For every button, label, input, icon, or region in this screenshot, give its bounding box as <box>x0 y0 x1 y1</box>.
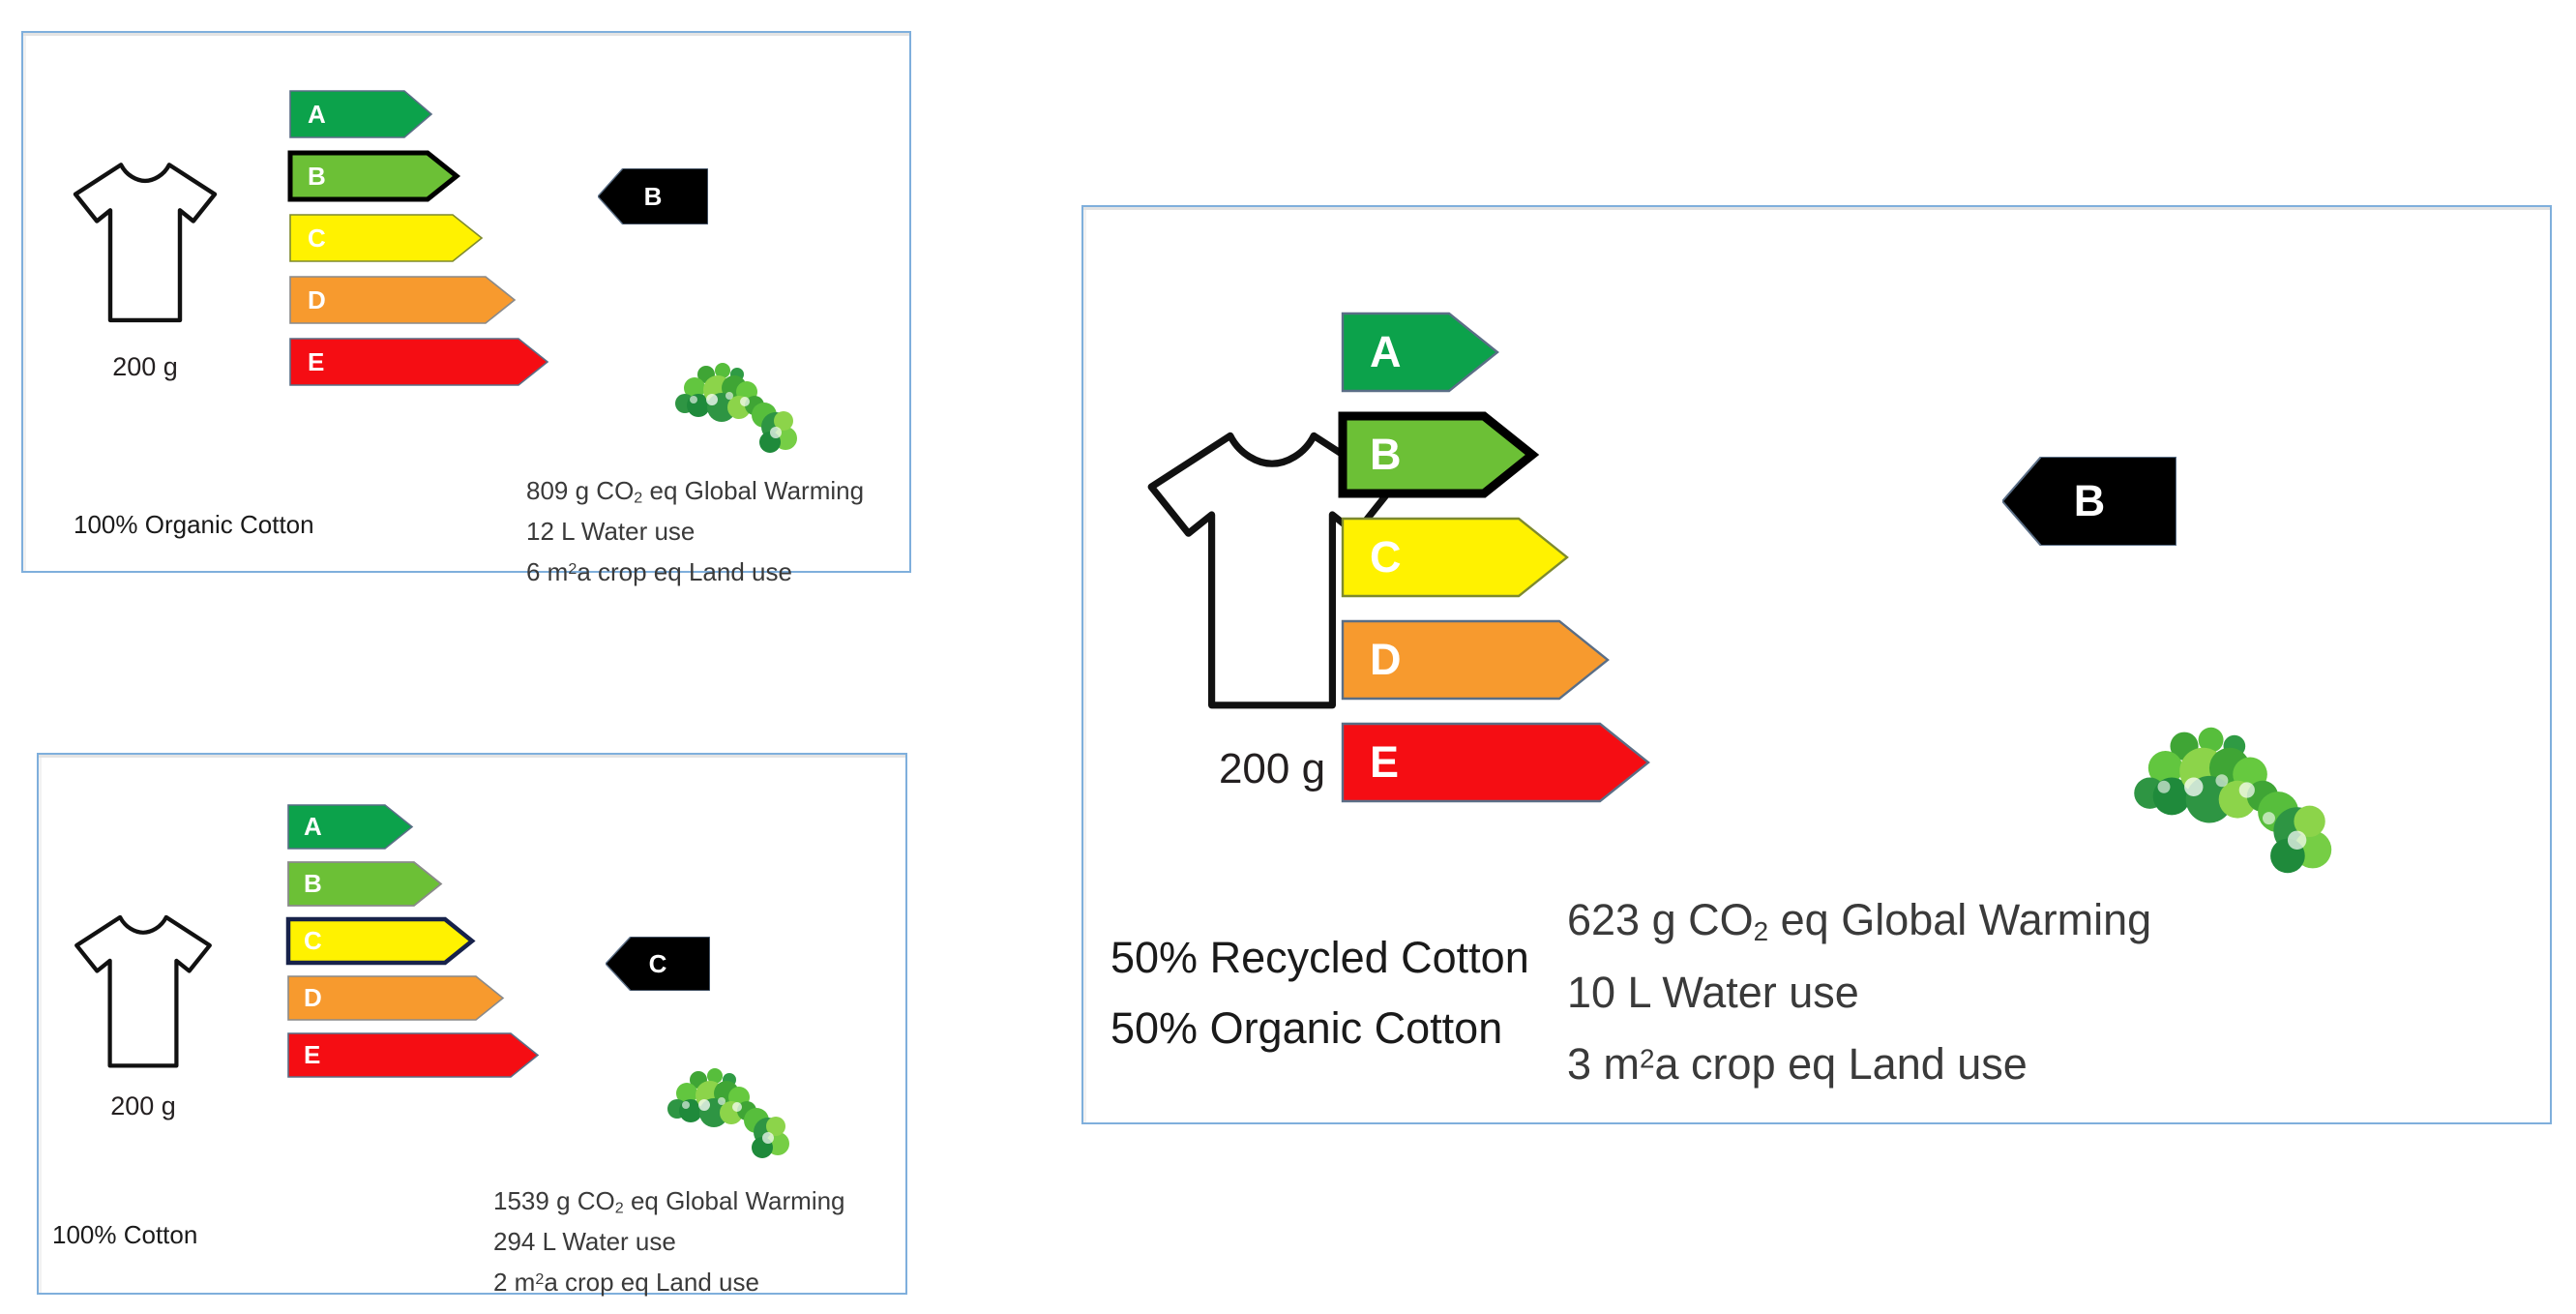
impact-values: 809 g CO2 eq Global Warming 12 L Water u… <box>526 470 864 592</box>
label-panel-conventional-cotton: 200 g A B <box>37 753 907 1295</box>
grade-bar-b-letter: B <box>304 869 322 899</box>
grade-bar-e-shape <box>288 1033 528 1077</box>
selected-grade-letter: C <box>649 949 667 979</box>
impact-land-use: 3 m2a crop eq Land use <box>1567 1029 2151 1101</box>
impact-water-use: 10 L Water use <box>1567 957 2151 1030</box>
grade-bar-e[interactable]: E <box>1343 724 1623 801</box>
grade-bar-d[interactable]: D <box>1343 621 1583 699</box>
grade-bar-d-letter: D <box>1370 635 1402 685</box>
grade-bar-e[interactable]: E <box>288 1033 528 1077</box>
grade-bar-c-letter: C <box>308 224 326 254</box>
composition-line-1: 100% Cotton <box>52 1217 197 1254</box>
composition-text: 50% Recycled Cotton 50% Organic Cotton <box>1110 923 1529 1064</box>
tshirt-icon <box>64 157 226 331</box>
grade-bar-b[interactable]: B <box>290 153 447 199</box>
impact-global-warming: 1539 g CO2 eq Global Warming <box>493 1180 845 1221</box>
composition-line-1: 50% Recycled Cotton <box>1110 923 1529 994</box>
grade-bar-b[interactable]: B <box>1343 416 1509 493</box>
grade-bar-a[interactable]: A <box>290 91 422 137</box>
composition-text: 100% Cotton <box>52 1217 197 1254</box>
label-panel-organic-cotton: 200 g A B <box>21 31 911 573</box>
impact-water-use: 294 L Water use <box>493 1221 845 1262</box>
grade-bar-d[interactable]: D <box>288 976 493 1020</box>
selected-grade-badge: C <box>606 937 710 991</box>
composition-text: 100% Organic Cotton <box>74 507 314 544</box>
energy-scale: A B C <box>1343 314 2020 801</box>
grade-bar-a-letter: A <box>1370 327 1402 377</box>
impact-global-warming: 623 g CO2 eq Global Warming <box>1567 884 2151 957</box>
grade-bar-b-letter: B <box>308 162 326 192</box>
selected-grade-badge: B <box>2002 457 2176 546</box>
label-panel-recycled-organic-blend: 200 g A B <box>1081 205 2552 1124</box>
grade-bar-b-shape <box>1343 416 1509 493</box>
grade-bar-d-letter: D <box>304 983 322 1013</box>
energy-scale: A B C <box>290 91 696 385</box>
grade-bar-a[interactable]: A <box>1343 314 1473 391</box>
grade-bar-d[interactable]: D <box>290 277 505 323</box>
green-footprint-icon <box>654 1062 799 1164</box>
grade-bar-e-letter: E <box>1370 737 1399 788</box>
impact-global-warming: 809 g CO2 eq Global Warming <box>526 470 864 511</box>
grade-bar-b[interactable]: B <box>288 862 431 906</box>
green-footprint-icon <box>2109 718 2351 882</box>
composition-line-1: 100% Organic Cotton <box>74 507 314 544</box>
impact-values: 623 g CO2 eq Global Warming 10 L Water u… <box>1567 884 2151 1101</box>
green-footprint-icon <box>662 357 807 459</box>
grade-bar-e-letter: E <box>304 1040 320 1070</box>
grade-bar-e-shape <box>290 339 538 385</box>
grade-bar-c[interactable]: C <box>288 919 462 963</box>
impact-water-use: 12 L Water use <box>526 511 864 552</box>
grade-bar-b-letter: B <box>1370 430 1402 480</box>
grade-bar-c-letter: C <box>1370 532 1402 582</box>
grade-bar-e[interactable]: E <box>290 339 538 385</box>
grade-bar-a[interactable]: A <box>288 805 402 849</box>
grade-bar-a-letter: A <box>304 812 322 842</box>
impact-land-use: 6 m2a crop eq Land use <box>526 552 864 592</box>
grade-bar-a-shape <box>1343 314 1473 391</box>
selected-grade-badge: B <box>598 168 708 224</box>
grade-bar-d-letter: D <box>308 285 326 315</box>
selected-grade-letter: B <box>644 182 663 212</box>
grade-bar-e-letter: E <box>308 347 324 377</box>
composition-line-2: 50% Organic Cotton <box>1110 994 1529 1064</box>
product-weight-label: 200 g <box>64 352 226 382</box>
impact-values: 1539 g CO2 eq Global Warming 294 L Water… <box>493 1180 845 1302</box>
grade-bar-c[interactable]: C <box>290 215 472 261</box>
grade-bar-c-letter: C <box>304 926 322 956</box>
impact-land-use: 2 m2a crop eq Land use <box>493 1262 845 1302</box>
grade-bar-c[interactable]: C <box>1343 519 1542 596</box>
tshirt-icon <box>66 910 221 1076</box>
selected-grade-letter: B <box>2074 476 2106 526</box>
product-weight-label: 200 g <box>66 1091 221 1121</box>
grade-bar-a-letter: A <box>308 100 326 130</box>
